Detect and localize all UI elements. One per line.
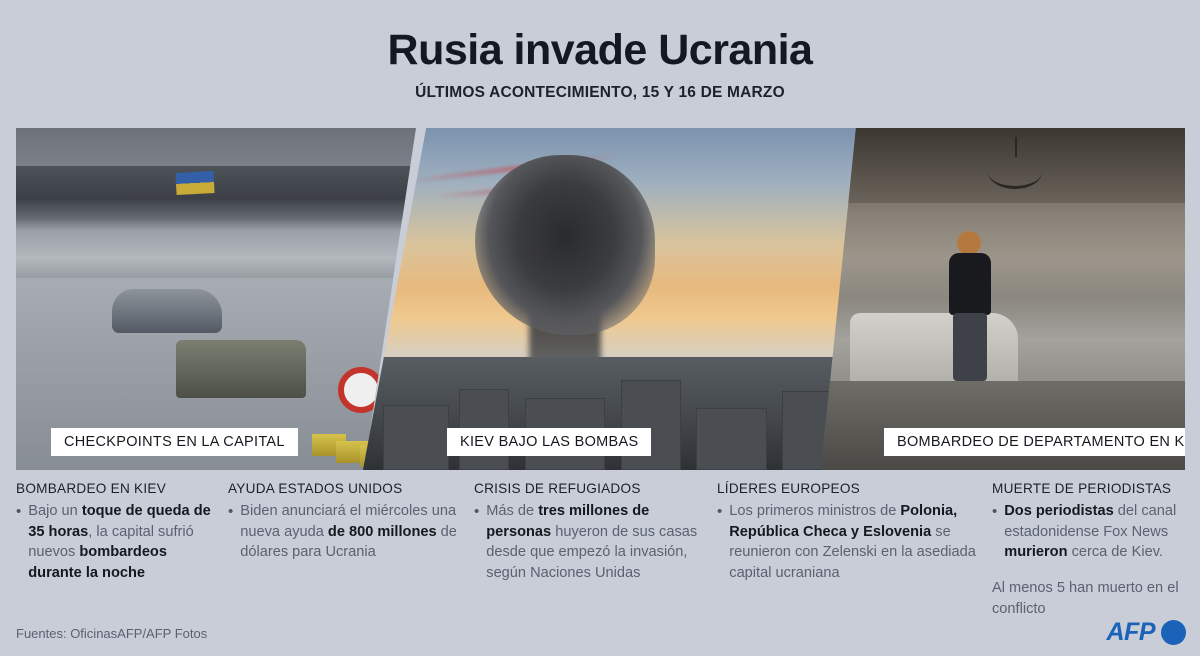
person-sweeping-shape (941, 231, 1001, 381)
bullet-item: • Dos periodistas del canal estadonidens… (992, 501, 1192, 563)
page-title: Rusia invade Ucrania (0, 28, 1200, 73)
bullet-icon: • (717, 501, 722, 522)
column-body: Biden anunciará el miércoles una nueva a… (240, 501, 468, 563)
photo-strip: CHECKPOINTS EN LA CAPITAL KIEV BAJO LAS … (16, 128, 1185, 470)
summary-column-refugiados: CRISIS DE REFUGIADOS • Más de tres millo… (474, 481, 716, 584)
column-heading: LÍDERES EUROPEOS (717, 481, 985, 496)
photo-caption-3: BOMBARDEO DE DEPARTAMENTO EN KIEV (884, 428, 1185, 456)
column-extra-note: Al menos 5 han muerto en el conflicto (992, 578, 1192, 619)
bullet-icon: • (474, 501, 479, 522)
bombed-apartment-photo (821, 128, 1185, 470)
column-heading: AYUDA ESTADOS UNIDOS (228, 481, 468, 496)
person-body-shape (949, 253, 991, 315)
photo-panel-apartment (821, 128, 1185, 470)
column-body: Dos periodistas del canal estadonidense … (1004, 501, 1192, 563)
column-body: Más de tres millones de personas huyeron… (486, 501, 716, 584)
building-shape (383, 405, 449, 470)
photo-panel-bombing (363, 128, 868, 470)
barricade-shape (16, 166, 416, 221)
ukraine-flag-shape (175, 171, 214, 195)
building-shape (621, 380, 682, 470)
summary-column-lideres: LÍDERES EUROPEOS • Los primeros ministro… (717, 481, 985, 584)
column-body: Los primeros ministros de Polonia, Repúb… (729, 501, 985, 584)
bullet-icon: • (992, 501, 997, 522)
photo-caption-2: KIEV BAJO LAS BOMBAS (447, 428, 651, 456)
checkpoint-street-photo (16, 128, 416, 470)
person-head-shape (957, 231, 981, 255)
bullet-item: • Biden anunciará el miércoles una nueva… (228, 501, 468, 563)
afp-logo-text: AFP (1107, 618, 1156, 647)
header: Rusia invade Ucrania ÚLTIMOS ACONTECIMIE… (0, 0, 1200, 102)
bullet-item: • Bajo un toque de queda de 35 horas, la… (16, 501, 224, 584)
column-heading: CRISIS DE REFUGIADOS (474, 481, 716, 496)
building-shape (696, 408, 767, 470)
photo-panel-checkpoints (16, 128, 416, 470)
source-note: Fuentes: OficinasAFP/AFP Fotos (16, 626, 207, 641)
infographic-page: Rusia invade Ucrania ÚLTIMOS ACONTECIMIE… (0, 0, 1200, 656)
car-shape (112, 289, 222, 333)
military-truck-shape (176, 340, 306, 398)
column-heading: BOMBARDEO EN KIEV (16, 481, 224, 496)
bullet-item: • Los primeros ministros de Polonia, Rep… (717, 501, 985, 584)
summary-column-ayuda: AYUDA ESTADOS UNIDOS • Biden anunciará e… (228, 481, 468, 563)
person-legs-shape (953, 313, 987, 381)
column-body: Bajo un toque de queda de 35 horas, la c… (28, 501, 224, 584)
smoke-plume-shape (475, 155, 655, 335)
column-heading: MUERTE DE PERIODISTAS (992, 481, 1192, 496)
explosion-smoke-photo (363, 128, 868, 470)
afp-logo-dot-icon (1161, 620, 1186, 645)
summary-column-periodistas: MUERTE DE PERIODISTAS • Dos periodistas … (992, 481, 1192, 620)
summary-columns: BOMBARDEO EN KIEV • Bajo un toque de que… (0, 481, 1200, 611)
page-subtitle: ÚLTIMOS ACONTECIMIENTO, 15 Y 16 DE MARZO (0, 84, 1200, 102)
bullet-item: • Más de tres millones de personas huyer… (474, 501, 716, 584)
photo-caption-1: CHECKPOINTS EN LA CAPITAL (51, 428, 298, 456)
summary-column-bombardeo: BOMBARDEO EN KIEV • Bajo un toque de que… (16, 481, 224, 584)
bullet-icon: • (16, 501, 21, 522)
bullet-icon: • (228, 501, 233, 522)
rubble-shape (821, 381, 1185, 470)
afp-logo: AFP (1107, 618, 1187, 647)
